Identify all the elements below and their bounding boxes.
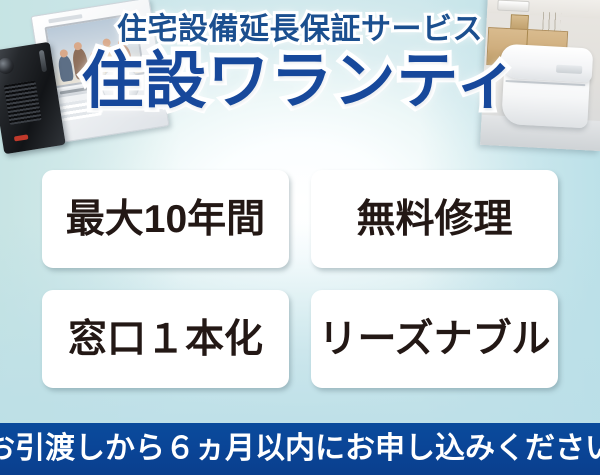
banner-title: 住設ワランティ	[0, 50, 600, 113]
feature-label: 最大10年間	[66, 200, 265, 239]
doorstation-call-button	[14, 134, 29, 141]
air-conditioner-unit	[497, 0, 530, 12]
feature-box-grid: 最大10年間 無料修理 窓口１本化 リーズナブル	[42, 170, 558, 388]
feature-box-reasonable: リーズナブル	[311, 290, 558, 388]
footer-bar: お引渡しから６ヵ月以内にお申し込みください	[0, 423, 600, 475]
feature-box-max-years: 最大10年間	[42, 170, 289, 268]
feature-box-single-contact: 窓口１本化	[42, 290, 289, 388]
footer-text: お引渡しから６ヵ月以内にお申し込みください	[0, 434, 600, 464]
feature-box-free-repair: 無料修理	[311, 170, 558, 268]
banner-subtitle: 住宅設備延長保証サービス	[0, 14, 600, 46]
promo-banner: 住宅設備延長保証サービス 住設ワランティ 最大10年間 無料修理 窓口１本化 リ…	[0, 0, 600, 475]
feature-label: 窓口１本化	[68, 320, 263, 359]
feature-label: リーズナブル	[318, 320, 550, 359]
feature-label: 無料修理	[356, 200, 512, 239]
banner-headings: 住宅設備延長保証サービス 住設ワランティ	[0, 14, 600, 113]
